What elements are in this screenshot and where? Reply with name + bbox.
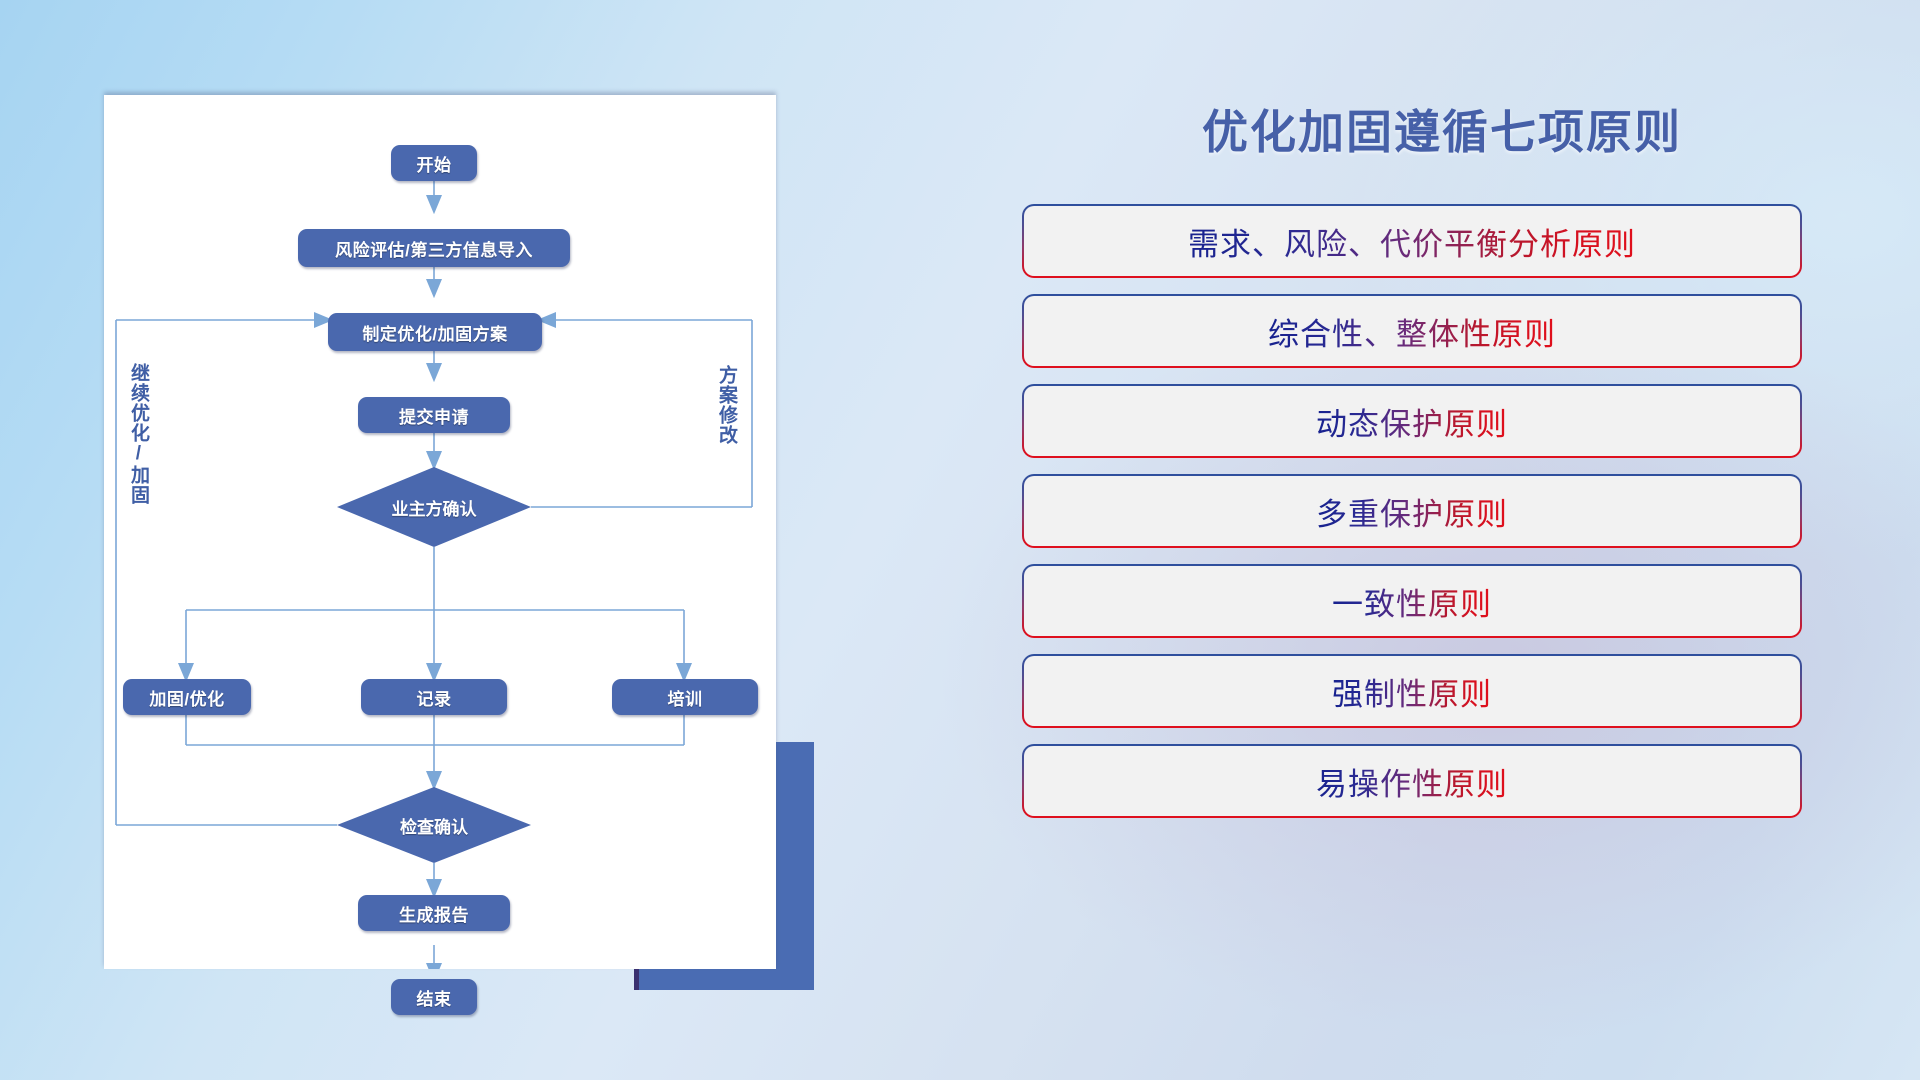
principle-item-label: 需求、风险、代价平衡分析原则 xyxy=(1188,219,1636,264)
principle-item-3[interactable]: 动态保护原则 xyxy=(1022,384,1802,458)
flow-decision-owner-confirm[interactable]: 业主方确认 xyxy=(337,467,531,547)
principles-panel: 优化加固遵循七项原则 需求、风险、代价平衡分析原则 综合性、整体性原则 动态保护… xyxy=(1022,96,1862,996)
flow-node-generate-report[interactable]: 生成报告 xyxy=(358,895,510,931)
principle-item-body: 需求、风险、代价平衡分析原则 xyxy=(1024,206,1800,276)
flow-node-submit-application[interactable]: 提交申请 xyxy=(358,397,510,433)
principles-panel-title: 优化加固遵循七项原则 xyxy=(1022,96,1862,162)
flow-node-risk-assessment[interactable]: 风险评估/第三方信息导入 xyxy=(298,229,570,267)
principle-item-body: 易操作性原则 xyxy=(1024,746,1800,816)
flow-node-label: 结束 xyxy=(417,985,452,1010)
edge-label-continue-optimize: 继续优化/加固 xyxy=(128,363,148,505)
principle-item-1[interactable]: 需求、风险、代价平衡分析原则 xyxy=(1022,204,1802,278)
principle-item-2[interactable]: 综合性、整体性原则 xyxy=(1022,294,1802,368)
principle-item-label: 综合性、整体性原则 xyxy=(1268,309,1556,354)
flow-node-reinforce-optimize[interactable]: 加固/优化 xyxy=(123,679,251,715)
principle-item-label: 一致性原则 xyxy=(1332,579,1492,624)
flow-node-label: 培训 xyxy=(668,685,703,710)
principle-item-7[interactable]: 易操作性原则 xyxy=(1022,744,1802,818)
principle-item-label: 强制性原则 xyxy=(1332,669,1492,714)
principle-item-label: 多重保护原则 xyxy=(1316,489,1508,534)
flow-node-make-plan[interactable]: 制定优化/加固方案 xyxy=(328,313,542,351)
principle-item-body: 综合性、整体性原则 xyxy=(1024,296,1800,366)
principle-item-label: 动态保护原则 xyxy=(1316,399,1508,444)
flow-node-label: 加固/优化 xyxy=(149,685,224,710)
flow-node-label: 制定优化/加固方案 xyxy=(362,320,507,345)
principle-item-body: 动态保护原则 xyxy=(1024,386,1800,456)
flow-node-label: 风险评估/第三方信息导入 xyxy=(335,236,533,261)
principle-item-5[interactable]: 一致性原则 xyxy=(1022,564,1802,638)
flowchart-card: 开始 风险评估/第三方信息导入 制定优化/加固方案 提交申请 业主方确认 加固/… xyxy=(104,95,776,969)
principle-item-label: 易操作性原则 xyxy=(1316,759,1508,804)
flow-node-label: 开始 xyxy=(417,151,452,176)
flow-node-label: 检查确认 xyxy=(400,813,468,838)
principle-item-body: 一致性原则 xyxy=(1024,566,1800,636)
flow-node-training[interactable]: 培训 xyxy=(612,679,758,715)
flow-decision-inspection-confirm[interactable]: 检查确认 xyxy=(337,787,531,863)
edge-label-plan-revision: 方案修改 xyxy=(716,365,736,445)
slide-root: 开始 风险评估/第三方信息导入 制定优化/加固方案 提交申请 业主方确认 加固/… xyxy=(0,0,1920,1080)
flow-node-start[interactable]: 开始 xyxy=(391,145,477,181)
flow-node-label: 提交申请 xyxy=(399,403,469,428)
flow-node-record[interactable]: 记录 xyxy=(361,679,507,715)
principle-item-4[interactable]: 多重保护原则 xyxy=(1022,474,1802,548)
flow-node-label: 生成报告 xyxy=(399,901,469,926)
principle-item-body: 强制性原则 xyxy=(1024,656,1800,726)
flow-node-end[interactable]: 结束 xyxy=(391,979,477,1015)
principle-item-body: 多重保护原则 xyxy=(1024,476,1800,546)
flow-node-label: 业主方确认 xyxy=(392,495,477,520)
principle-item-6[interactable]: 强制性原则 xyxy=(1022,654,1802,728)
flow-node-label: 记录 xyxy=(417,685,452,710)
